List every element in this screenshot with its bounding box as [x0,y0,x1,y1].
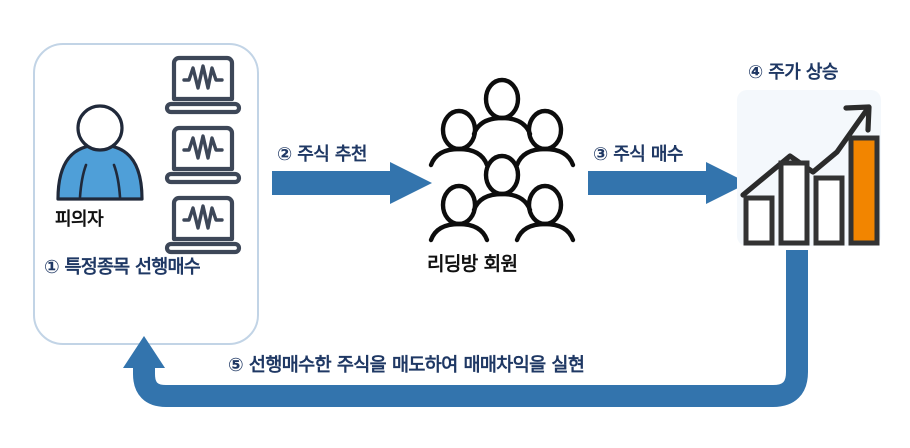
step5-label: ⑤ 선행매수한 주식을 매도하여 매매차익을 실현 [228,351,584,377]
step4-label: ④ 주가 상승 [748,58,838,84]
arrow-step2 [272,162,432,204]
leading-room-members-icon [412,78,592,243]
arrow-step5-return [120,248,830,428]
suspect-label: 피의자 [55,205,103,231]
laptop-won-icon-1 [167,52,239,118]
suspect-person-icon [48,105,152,201]
laptop-won-icon-2 [167,122,239,188]
arrow-step3 [588,162,748,204]
step3-label: ③ 주식 매수 [593,140,683,166]
step2-label: ② 주식 추천 [277,140,367,166]
diagram-canvas: 피의자 ① 특정종목 선행매수 ② 주식 추천 [0,0,910,448]
stock-rise-chart-icon [733,88,885,248]
